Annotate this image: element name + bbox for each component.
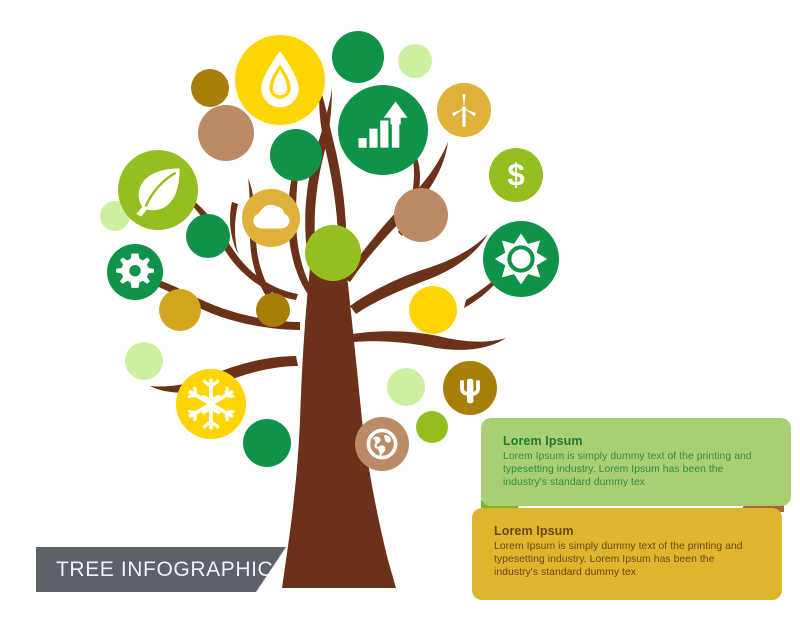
circle-dark-green-low [243,419,291,467]
node-growth-chart[interactable] [338,85,428,175]
callout-gold-body: Lorem Ipsum is simply dummy text of the … [494,540,760,580]
circle-olive-low [416,411,448,443]
node-snowflake[interactable] [176,369,246,439]
page-title: TREE INFOGRAPHIC [36,558,273,582]
node-gear[interactable] [107,244,163,300]
node-dollar-sign[interactable] [489,148,543,202]
node-sun[interactable] [483,221,559,297]
callout-green[interactable]: Lorem Ipsum Lorem Ipsum is simply dummy … [481,418,791,506]
node-globe[interactable] [355,417,409,471]
node-water-drop[interactable] [235,35,325,125]
node-cactus[interactable] [443,361,497,415]
node-leaf[interactable] [118,150,198,230]
circle-dark-gold-mid [256,293,290,327]
circle-mint-right [387,368,425,406]
callout-gold[interactable]: Lorem Ipsum Lorem Ipsum is simply dummy … [472,508,782,600]
circle-yellow-right [409,286,457,334]
circle-mint-small [398,44,432,78]
callout-green-heading: Lorem Ipsum [503,434,769,448]
circle-dark-gold-small [191,69,229,107]
callout-gold-heading: Lorem Ipsum [494,524,760,538]
circle-tan-mid-right [394,188,448,242]
sun-icon [495,233,547,284]
dollar-sign-icon [507,157,524,192]
circle-dark-green-left [186,214,230,258]
circle-dark-gold-left [159,289,201,331]
node-wind-turbine[interactable] [437,83,491,137]
circle-dark-green-mid [270,129,322,181]
infographic-canvas: $ [0,0,800,623]
callout-green-body: Lorem Ipsum is simply dummy text of the … [503,450,769,490]
title-banner: TREE INFOGRAPHIC [36,547,286,592]
gear-icon [116,254,154,288]
circle-mint-left [125,342,163,380]
circle-olive-center [305,225,361,281]
node-cloud[interactable] [242,189,300,247]
node-circle [355,417,409,471]
circle-dark-green-small [332,31,384,83]
circle-tan-medium [198,105,254,161]
